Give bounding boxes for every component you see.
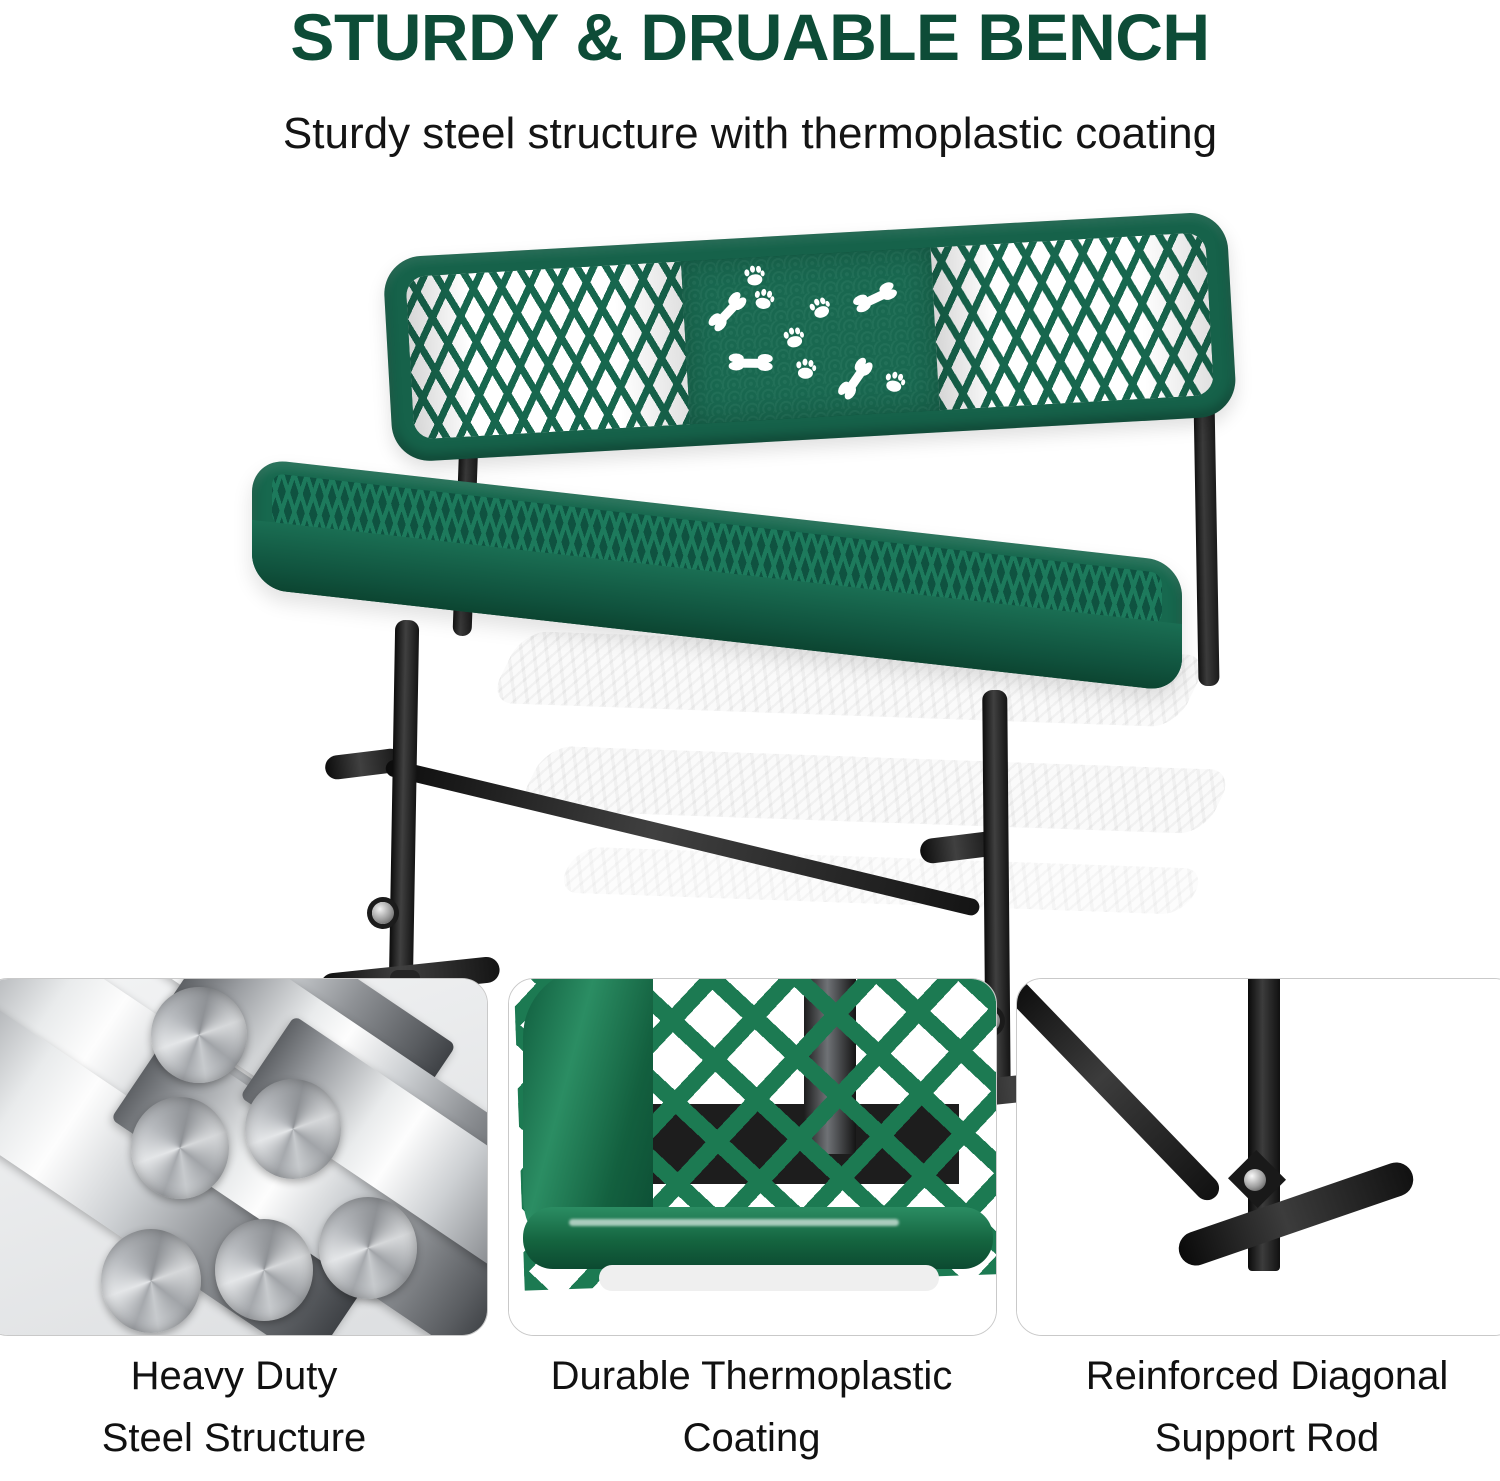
page-title: STURDY & DRUABLE BENCH — [0, 2, 1500, 72]
bench-seat — [252, 458, 1182, 692]
paw-icon — [742, 264, 765, 287]
caption-durable-thermoplastic-coating: Durable Thermoplastic Coating — [508, 1345, 995, 1469]
bench-leg-left — [389, 620, 419, 990]
support-rod-bolt-left — [372, 902, 394, 924]
steel-bar-end — [101, 1229, 201, 1333]
feature-image-support-rod — [1016, 978, 1500, 1336]
steel-bar-end — [131, 1097, 229, 1199]
backrest-decor-panel — [680, 248, 939, 425]
paw-icon — [751, 287, 775, 311]
caption-line: Reinforced Diagonal — [1016, 1345, 1500, 1407]
gloss-highlight — [569, 1219, 899, 1226]
caption-line: Coating — [508, 1407, 995, 1469]
feature-captions: Heavy Duty Steel Structure Durable Therm… — [0, 1345, 1500, 1481]
rod-joint-bolt — [1244, 1169, 1266, 1191]
mesh-underside — [599, 1265, 939, 1291]
steel-bar-end — [245, 1079, 341, 1179]
feature-image-steel-bars — [0, 978, 488, 1336]
backrest-mesh-right — [930, 232, 1214, 410]
paw-icon — [794, 358, 816, 380]
bone-icon — [706, 290, 749, 335]
hero-product-image — [0, 190, 1500, 960]
paw-icon — [781, 325, 806, 350]
bone-icon — [835, 356, 875, 402]
diagonal-support-rod — [384, 758, 981, 917]
paw-icon — [806, 295, 833, 322]
steel-bar-end — [151, 987, 247, 1083]
steel-bar-end — [319, 1197, 417, 1299]
page-subtitle: Sturdy steel structure with thermoplasti… — [0, 108, 1500, 160]
support-rod-scene — [1017, 979, 1500, 1335]
park-bench — [0, 190, 1500, 960]
feature-panels — [0, 978, 1500, 1334]
caption-line: Durable Thermoplastic — [508, 1345, 995, 1407]
bench-backrest — [382, 211, 1237, 463]
caption-line: Support Rod — [1016, 1407, 1500, 1469]
caption-line: Heavy Duty — [0, 1345, 486, 1407]
bone-icon — [728, 353, 772, 372]
backrest-post-right — [1193, 396, 1219, 686]
mesh-bottom-rail — [523, 1207, 993, 1269]
caption-reinforced-diagonal-support-rod: Reinforced Diagonal Support Rod — [1016, 1345, 1500, 1469]
header: STURDY & DRUABLE BENCH Sturdy steel stru… — [0, 0, 1500, 180]
paw-icon — [882, 370, 907, 395]
diagonal-rod — [1016, 978, 1224, 1205]
steel-bar-end — [215, 1219, 313, 1321]
backrest-inner — [405, 232, 1214, 439]
backrest-mesh-left — [405, 262, 689, 440]
caption-line: Steel Structure — [0, 1407, 486, 1469]
caption-heavy-duty-steel-structure: Heavy Duty Steel Structure — [0, 1345, 486, 1469]
bone-icon — [851, 280, 898, 315]
mesh-closeup-scene — [509, 979, 996, 1335]
steel-bars-scene — [0, 979, 487, 1335]
feature-image-thermoplastic-mesh — [508, 978, 997, 1336]
